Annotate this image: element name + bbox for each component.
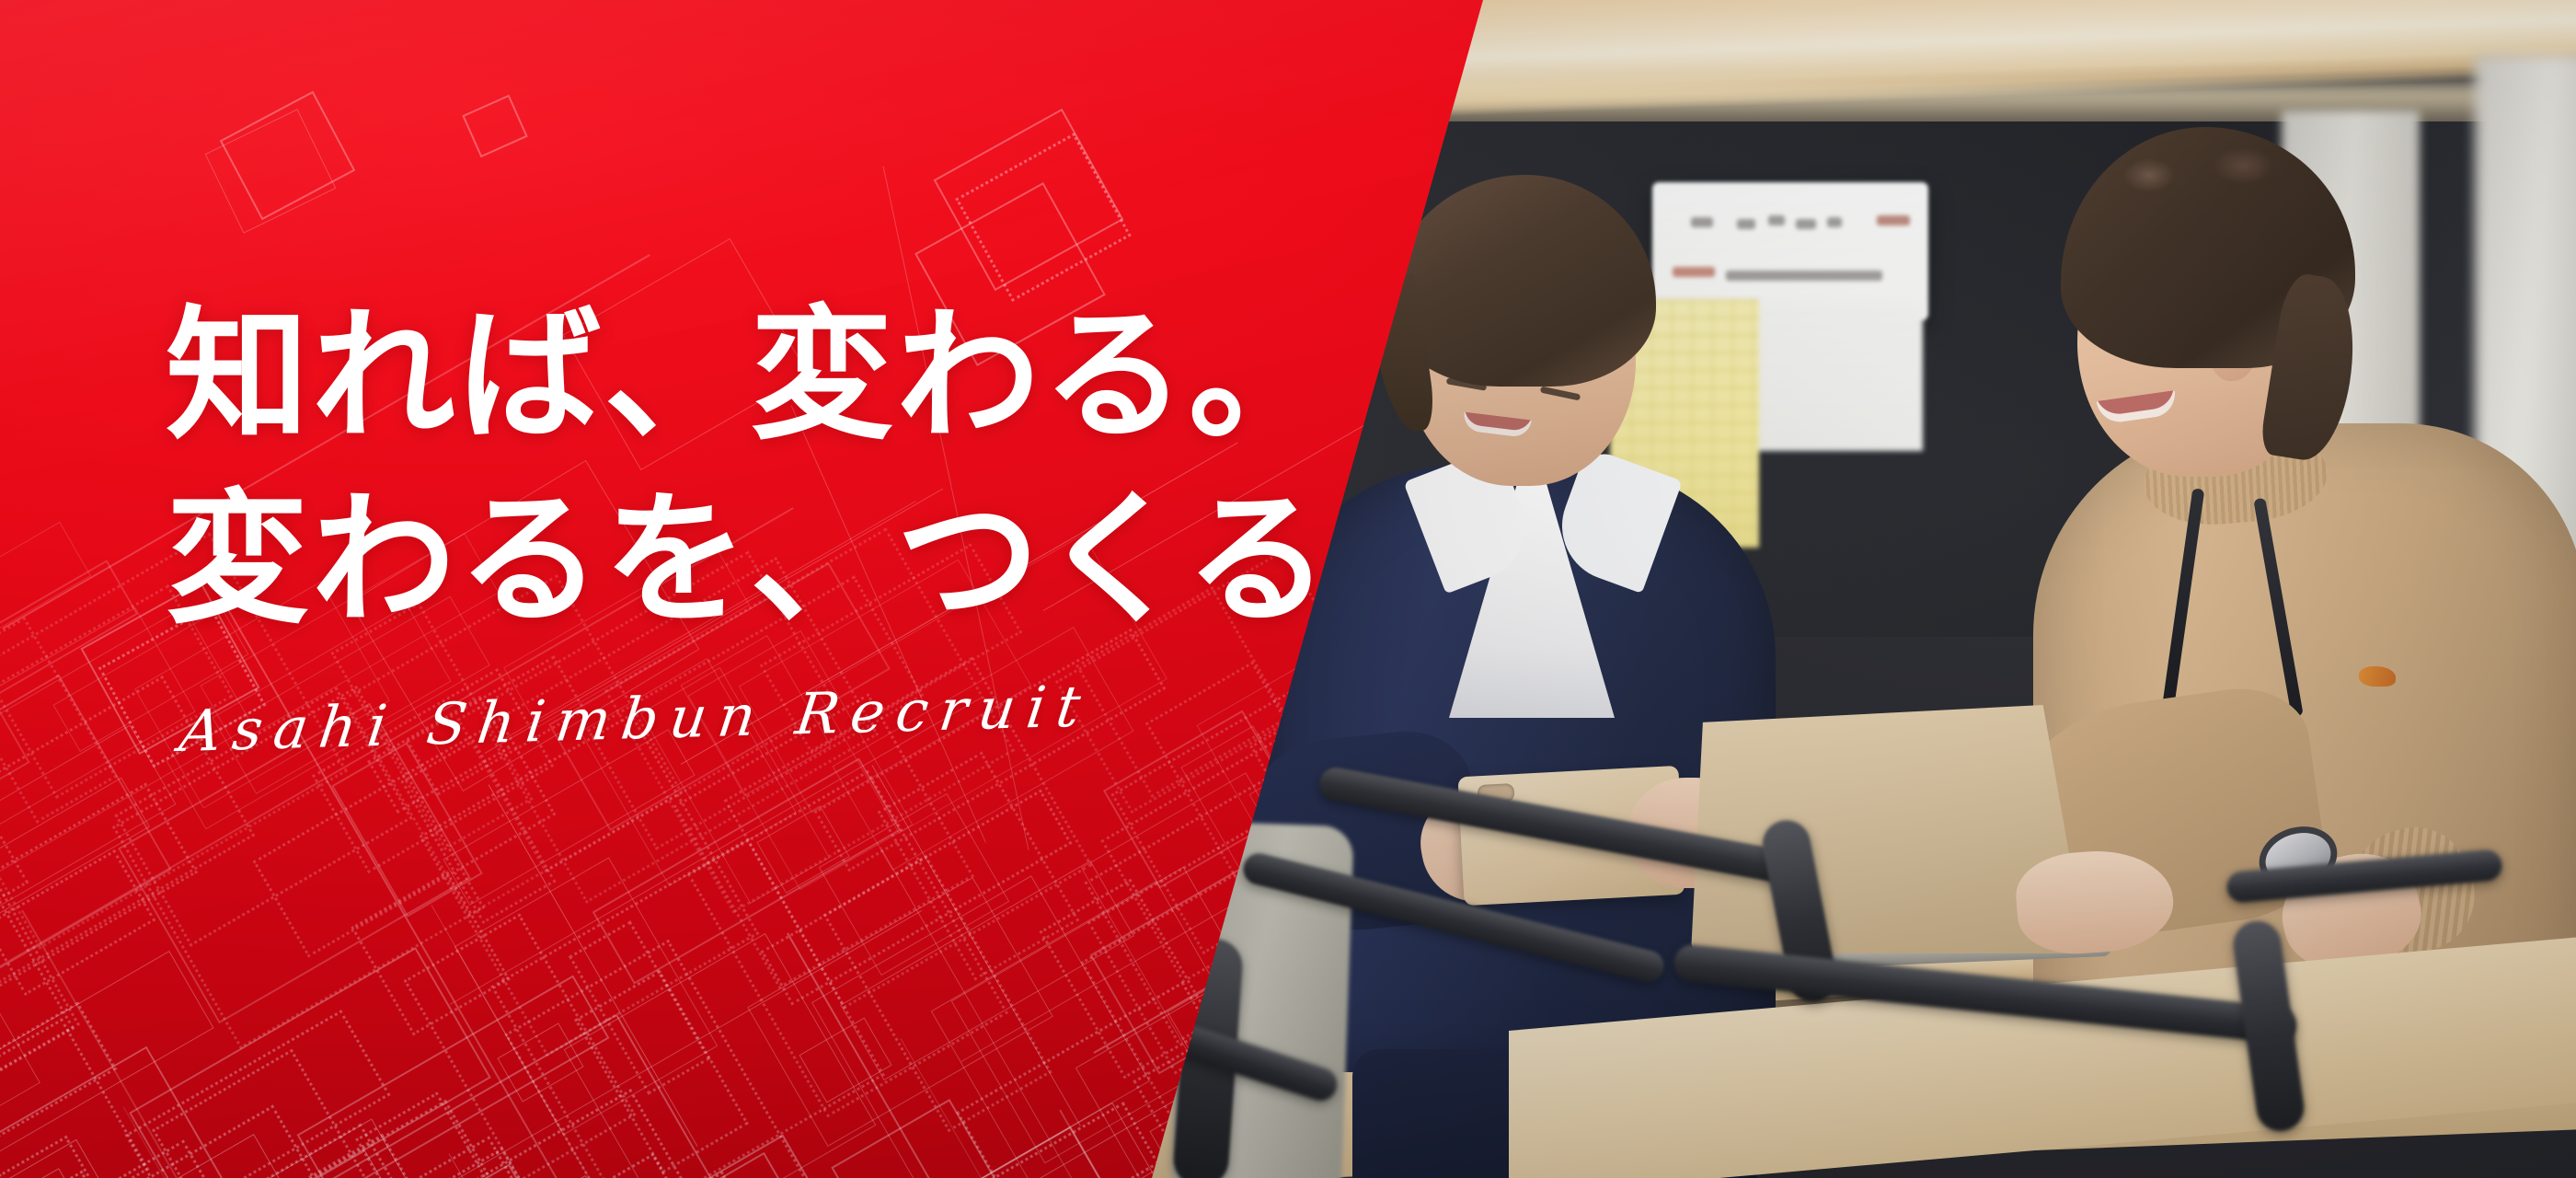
recruit-hero-banner: 知れば、変わる。 変わるを、つくる。 Asahi Shimbun Recruit <box>0 0 2576 1178</box>
whiteboard-accent-mark <box>1673 267 1715 277</box>
whiteboard-text-mark <box>1796 219 1816 229</box>
sweater-embroidery-icon <box>2359 666 2396 687</box>
whiteboard-text-mark <box>1737 219 1755 229</box>
headline-line-2: 変わるを、つくる。 <box>166 488 1380 631</box>
whiteboard-text-mark <box>1726 271 1882 281</box>
whiteboard-text-mark <box>1827 217 1842 227</box>
whiteboard-text-mark <box>1691 217 1713 227</box>
headline-line-1: 知れば、変わる。 <box>166 304 1380 447</box>
whiteboard-accent-mark <box>1877 215 1910 225</box>
apple-logo-icon <box>1816 785 1866 838</box>
whiteboard-text-mark <box>1768 215 1785 225</box>
brand-signature: Asahi Shimbun Recruit <box>176 664 1389 765</box>
headline-block: 知れば、変わる。 変わるを、つくる。 Asahi Shimbun Recruit <box>166 304 1380 765</box>
